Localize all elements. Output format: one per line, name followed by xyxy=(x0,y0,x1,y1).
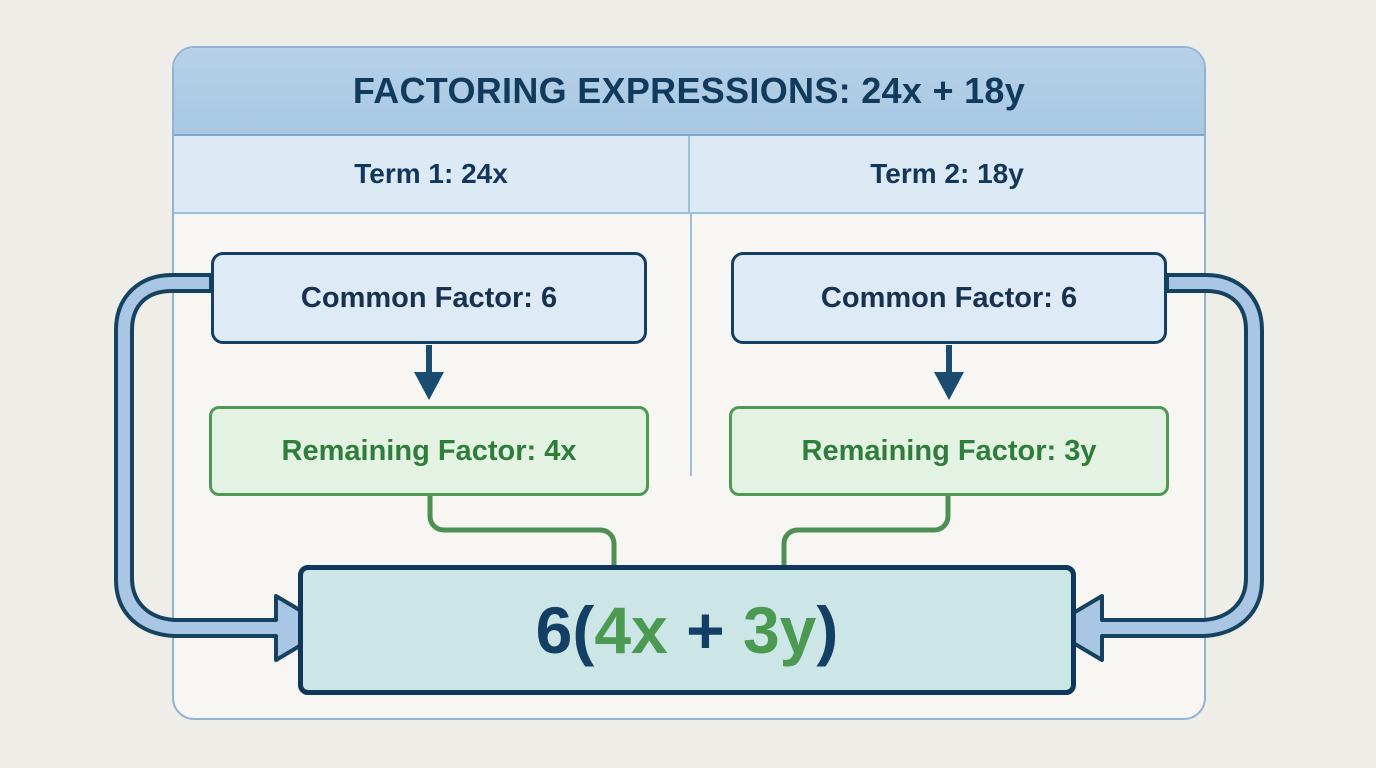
remaining-factor-box-term-1[interactable]: Remaining Factor: 4x xyxy=(209,406,649,496)
common-factor-label-term-2: Common Factor: 6 xyxy=(821,282,1077,315)
factored-result-expression: 6(4x + 3y) xyxy=(536,592,839,668)
remaining-factor-label-term-1: Remaining Factor: 4x xyxy=(282,435,577,468)
result-second-term: 3y xyxy=(743,593,816,667)
remaining-factor-label-term-2: Remaining Factor: 3y xyxy=(802,435,1097,468)
result-suffix: ) xyxy=(816,593,838,667)
term-header-row: Term 1: 24x Term 2: 18y xyxy=(174,136,1204,214)
remaining-factor-box-term-2[interactable]: Remaining Factor: 3y xyxy=(729,406,1169,496)
column-divider xyxy=(690,212,692,476)
diagram-title-bar: FACTORING EXPRESSIONS: 24x + 18y xyxy=(174,48,1204,136)
result-prefix: 6( xyxy=(536,593,595,667)
term-1-label: Term 1: 24x xyxy=(354,158,508,190)
term-2-label: Term 2: 18y xyxy=(870,158,1024,190)
common-factor-box-term-2[interactable]: Common Factor: 6 xyxy=(731,252,1167,344)
common-factor-box-term-1[interactable]: Common Factor: 6 xyxy=(211,252,647,344)
factored-result-box[interactable]: 6(4x + 3y) xyxy=(298,565,1076,695)
term-column-header-2: Term 2: 18y xyxy=(690,136,1204,212)
diagram-canvas: FACTORING EXPRESSIONS: 24x + 18y Term 1:… xyxy=(0,0,1376,768)
common-factor-label-term-1: Common Factor: 6 xyxy=(301,282,557,315)
page-title: FACTORING EXPRESSIONS: 24x + 18y xyxy=(353,70,1025,112)
result-operator: + xyxy=(668,593,743,667)
term-column-header-1: Term 1: 24x xyxy=(174,136,690,212)
result-first-term: 4x xyxy=(594,593,667,667)
